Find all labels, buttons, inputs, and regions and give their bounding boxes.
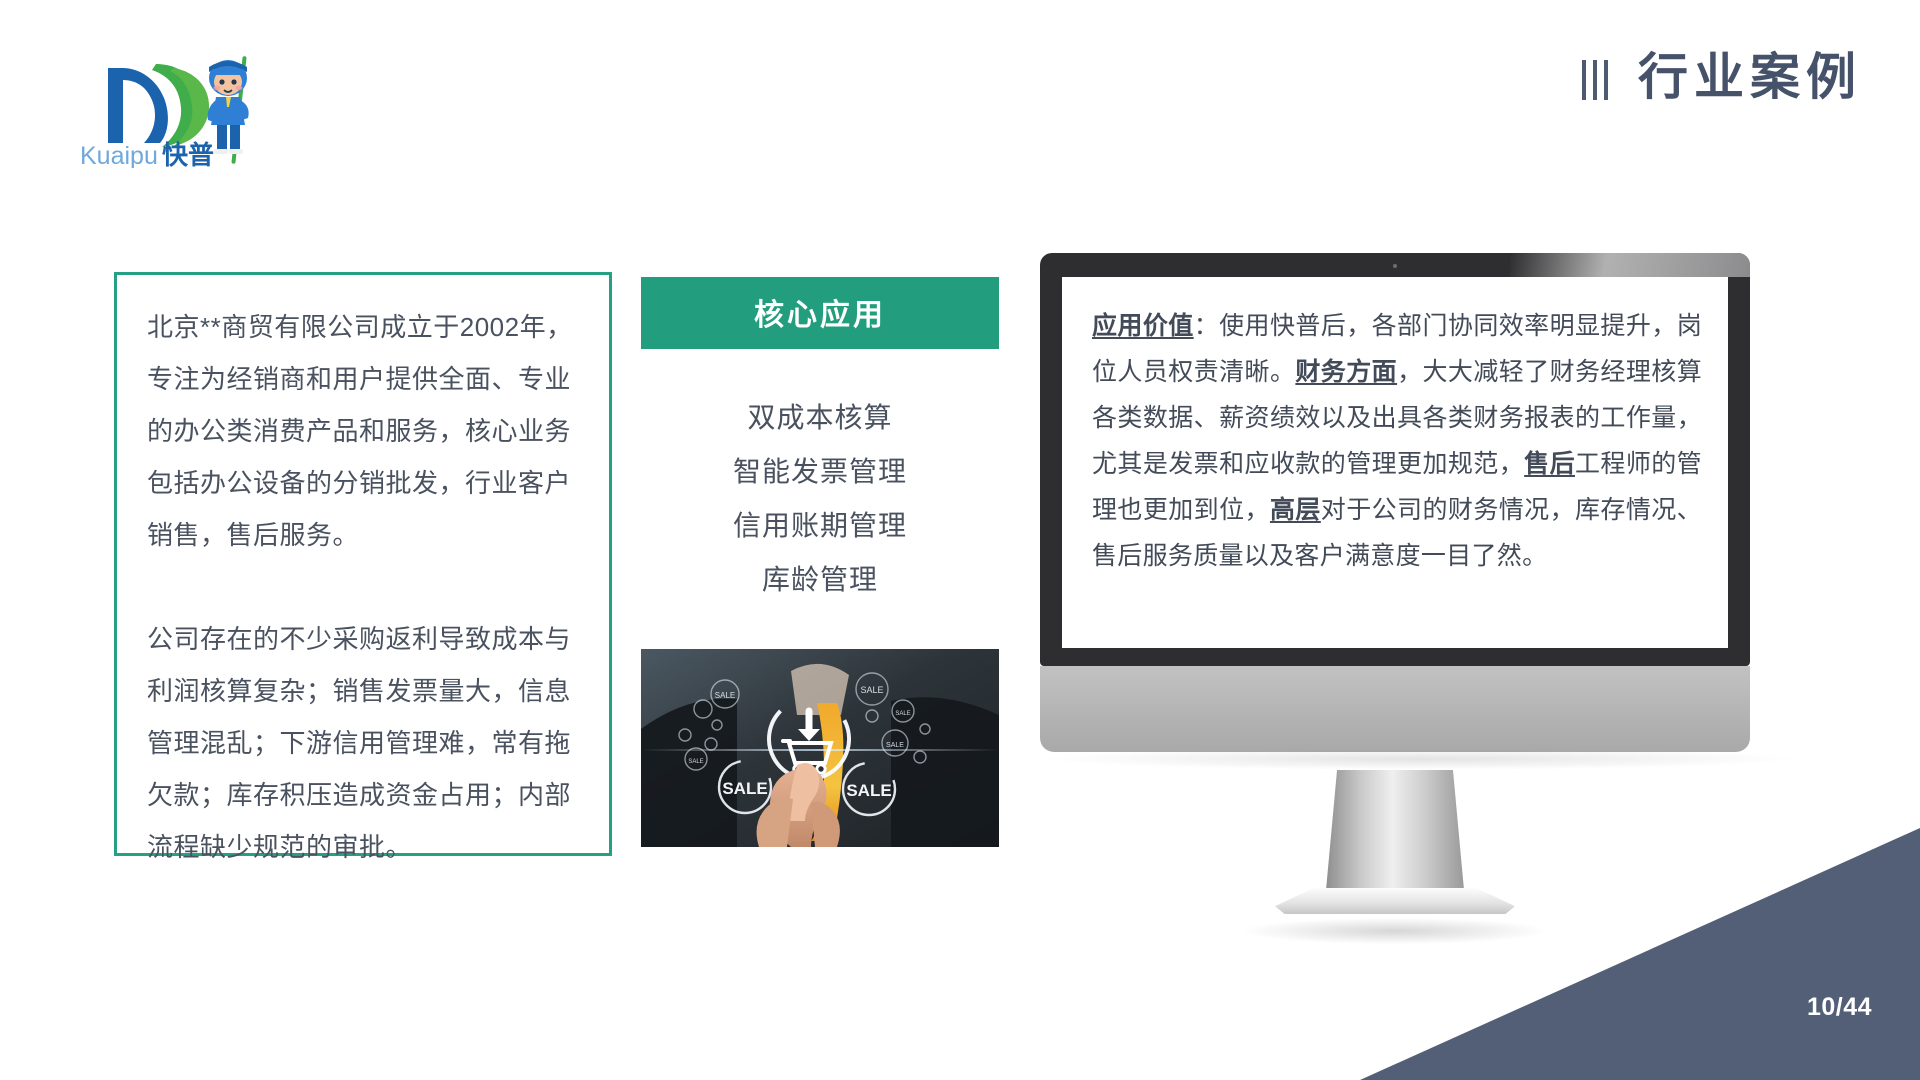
- svg-text:SALE: SALE: [895, 711, 910, 717]
- list-item: 双成本核算: [641, 391, 999, 445]
- value-emphasis-finance: 财务方面: [1295, 358, 1397, 386]
- svg-text:SALE: SALE: [860, 685, 883, 695]
- monitor-chin-shadow: [1040, 748, 1800, 770]
- monitor-bezel: 应用价值：使用快普后，各部门协同效率明显提升，岗位人员权责清晰。财务方面，大大减…: [1040, 253, 1750, 666]
- triple-bar-icon: [1582, 54, 1608, 100]
- monitor-base-shadow: [1245, 918, 1545, 944]
- core-applications-column: 核心应用 双成本核算 智能发票管理 信用账期管理 库龄管理: [641, 277, 999, 847]
- ecommerce-photo: SALE SALE SALE SALE SALE SALE SALE: [641, 649, 999, 847]
- desktop-monitor-illustration: 应用价值：使用快普后，各部门协同效率明显提升，岗位人员权责清晰。财务方面，大大减…: [1040, 253, 1750, 944]
- application-value-text: 应用价值：使用快普后，各部门协同效率明显提升，岗位人员权责清晰。财务方面，大大减…: [1092, 303, 1702, 579]
- monitor-stand-neck: [1326, 770, 1464, 890]
- page-number: 10/44: [1807, 993, 1872, 1022]
- application-value-heading: 应用价值: [1092, 312, 1194, 340]
- svg-text:SALE: SALE: [846, 781, 891, 800]
- kuaipu-logo: Kuaipu 快普: [78, 38, 268, 168]
- core-applications-header: 核心应用: [641, 277, 999, 349]
- value-emphasis-aftersales: 售后: [1524, 450, 1575, 478]
- list-item: 信用账期管理: [641, 499, 999, 553]
- core-applications-list: 双成本核算 智能发票管理 信用账期管理 库龄管理: [641, 391, 999, 607]
- slide-header: Kuaipu 快普: [0, 0, 1920, 200]
- value-emphasis-management: 高层: [1270, 496, 1321, 524]
- list-item: 智能发票管理: [641, 445, 999, 499]
- svg-text:SALE: SALE: [722, 779, 767, 798]
- monitor-screen: 应用价值：使用快普后，各部门协同效率明显提升，岗位人员权责清晰。财务方面，大大减…: [1062, 277, 1728, 648]
- monitor-chin: [1040, 666, 1750, 752]
- case-paragraph-1: 北京**商贸有限公司成立于2002年，专注为经销商和用户提供全面、专业的办公类消…: [147, 301, 581, 561]
- page-title: 行业案例: [1582, 52, 1862, 102]
- bezel-gloss: [1510, 253, 1750, 277]
- webcam-icon: [1393, 264, 1397, 268]
- slide-canvas: 10/44 Kuaipu 快普: [0, 0, 1920, 1080]
- svg-text:SALE: SALE: [688, 759, 703, 765]
- logo-wordmark-latin: Kuaipu: [80, 142, 158, 168]
- monitor-stand-base: [1275, 888, 1515, 914]
- svg-text:SALE: SALE: [715, 691, 735, 700]
- page-title-text: 行业案例: [1638, 52, 1862, 102]
- logo-wordmark-cn: 快普: [162, 140, 214, 168]
- case-description-box: 北京**商贸有限公司成立于2002年，专注为经销商和用户提供全面、专业的办公类消…: [114, 272, 612, 856]
- svg-text:SALE: SALE: [886, 742, 904, 749]
- list-item: 库龄管理: [641, 553, 999, 607]
- case-paragraph-2: 公司存在的不少采购返利导致成本与利润核算复杂；销售发票量大，信息管理混乱；下游信…: [147, 613, 581, 873]
- heading-colon: ：: [1194, 312, 1219, 340]
